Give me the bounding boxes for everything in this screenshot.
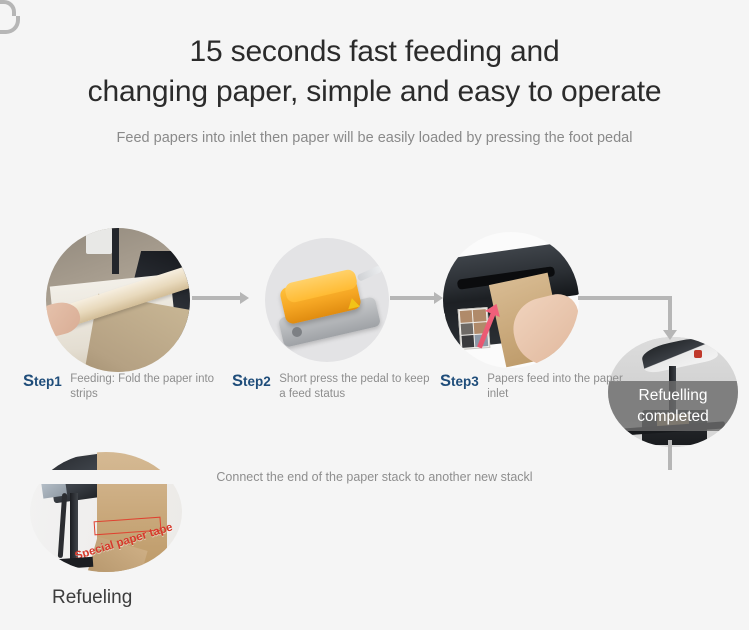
infographic-page: 15 seconds fast feeding and changing pap… (0, 0, 749, 630)
bottom-note-text: Connect the end of the paper stack to an… (208, 470, 540, 484)
badge-label: Refuelling completed (637, 385, 709, 427)
badge-label-line-1: Refuelling (639, 387, 708, 404)
pedal-cable (356, 265, 382, 281)
step2-number: Step2 (232, 374, 271, 389)
brand-mark-icon (694, 350, 702, 358)
connector-corner (0, 0, 16, 16)
white-box (86, 228, 112, 254)
step2-caption: Step2 Short press the pedal to keep a fe… (232, 372, 431, 402)
headline-line-2: changing paper, simple and easy to opera… (0, 72, 749, 112)
step3-caption: Step3 Papers feed into the paper inlet (440, 372, 639, 402)
warning-triangle-icon (346, 296, 360, 308)
connector-step2-step3 (390, 296, 438, 300)
step3-description: Papers feed into the paper inlet (487, 372, 639, 402)
badge-label-line-2: completed (637, 408, 709, 425)
headline-line-1: 15 seconds fast feeding and (190, 35, 560, 68)
machine-foot (57, 556, 94, 568)
step3-photo (443, 232, 579, 368)
connector-step1-step2 (192, 296, 244, 300)
step1-number: Step1 (23, 374, 62, 389)
connector-step3-completed (578, 296, 672, 300)
machine-leg (112, 228, 119, 274)
refueling-caption: Refueling (52, 586, 132, 610)
bottom-note: Connect the end of the paper stack to an… (0, 470, 749, 484)
step3-number: Step3 (440, 374, 479, 389)
step1-photo (46, 228, 190, 372)
connector-down-to-completed (668, 296, 672, 334)
page-subtitle: Feed papers into inlet then paper will b… (0, 128, 749, 148)
step1-caption: Step1 Feeding: Fold the paper into strip… (23, 372, 222, 402)
step1-description: Feeding: Fold the paper into strips (70, 372, 222, 402)
step2-photo (265, 238, 389, 362)
arrow-right-icon (240, 292, 249, 304)
arrow-down-icon (663, 330, 677, 340)
arrow-right-icon (434, 292, 443, 304)
step2-description: Short press the pedal to keep a feed sta… (279, 372, 431, 402)
page-title: 15 seconds fast feeding and changing pap… (0, 32, 749, 112)
